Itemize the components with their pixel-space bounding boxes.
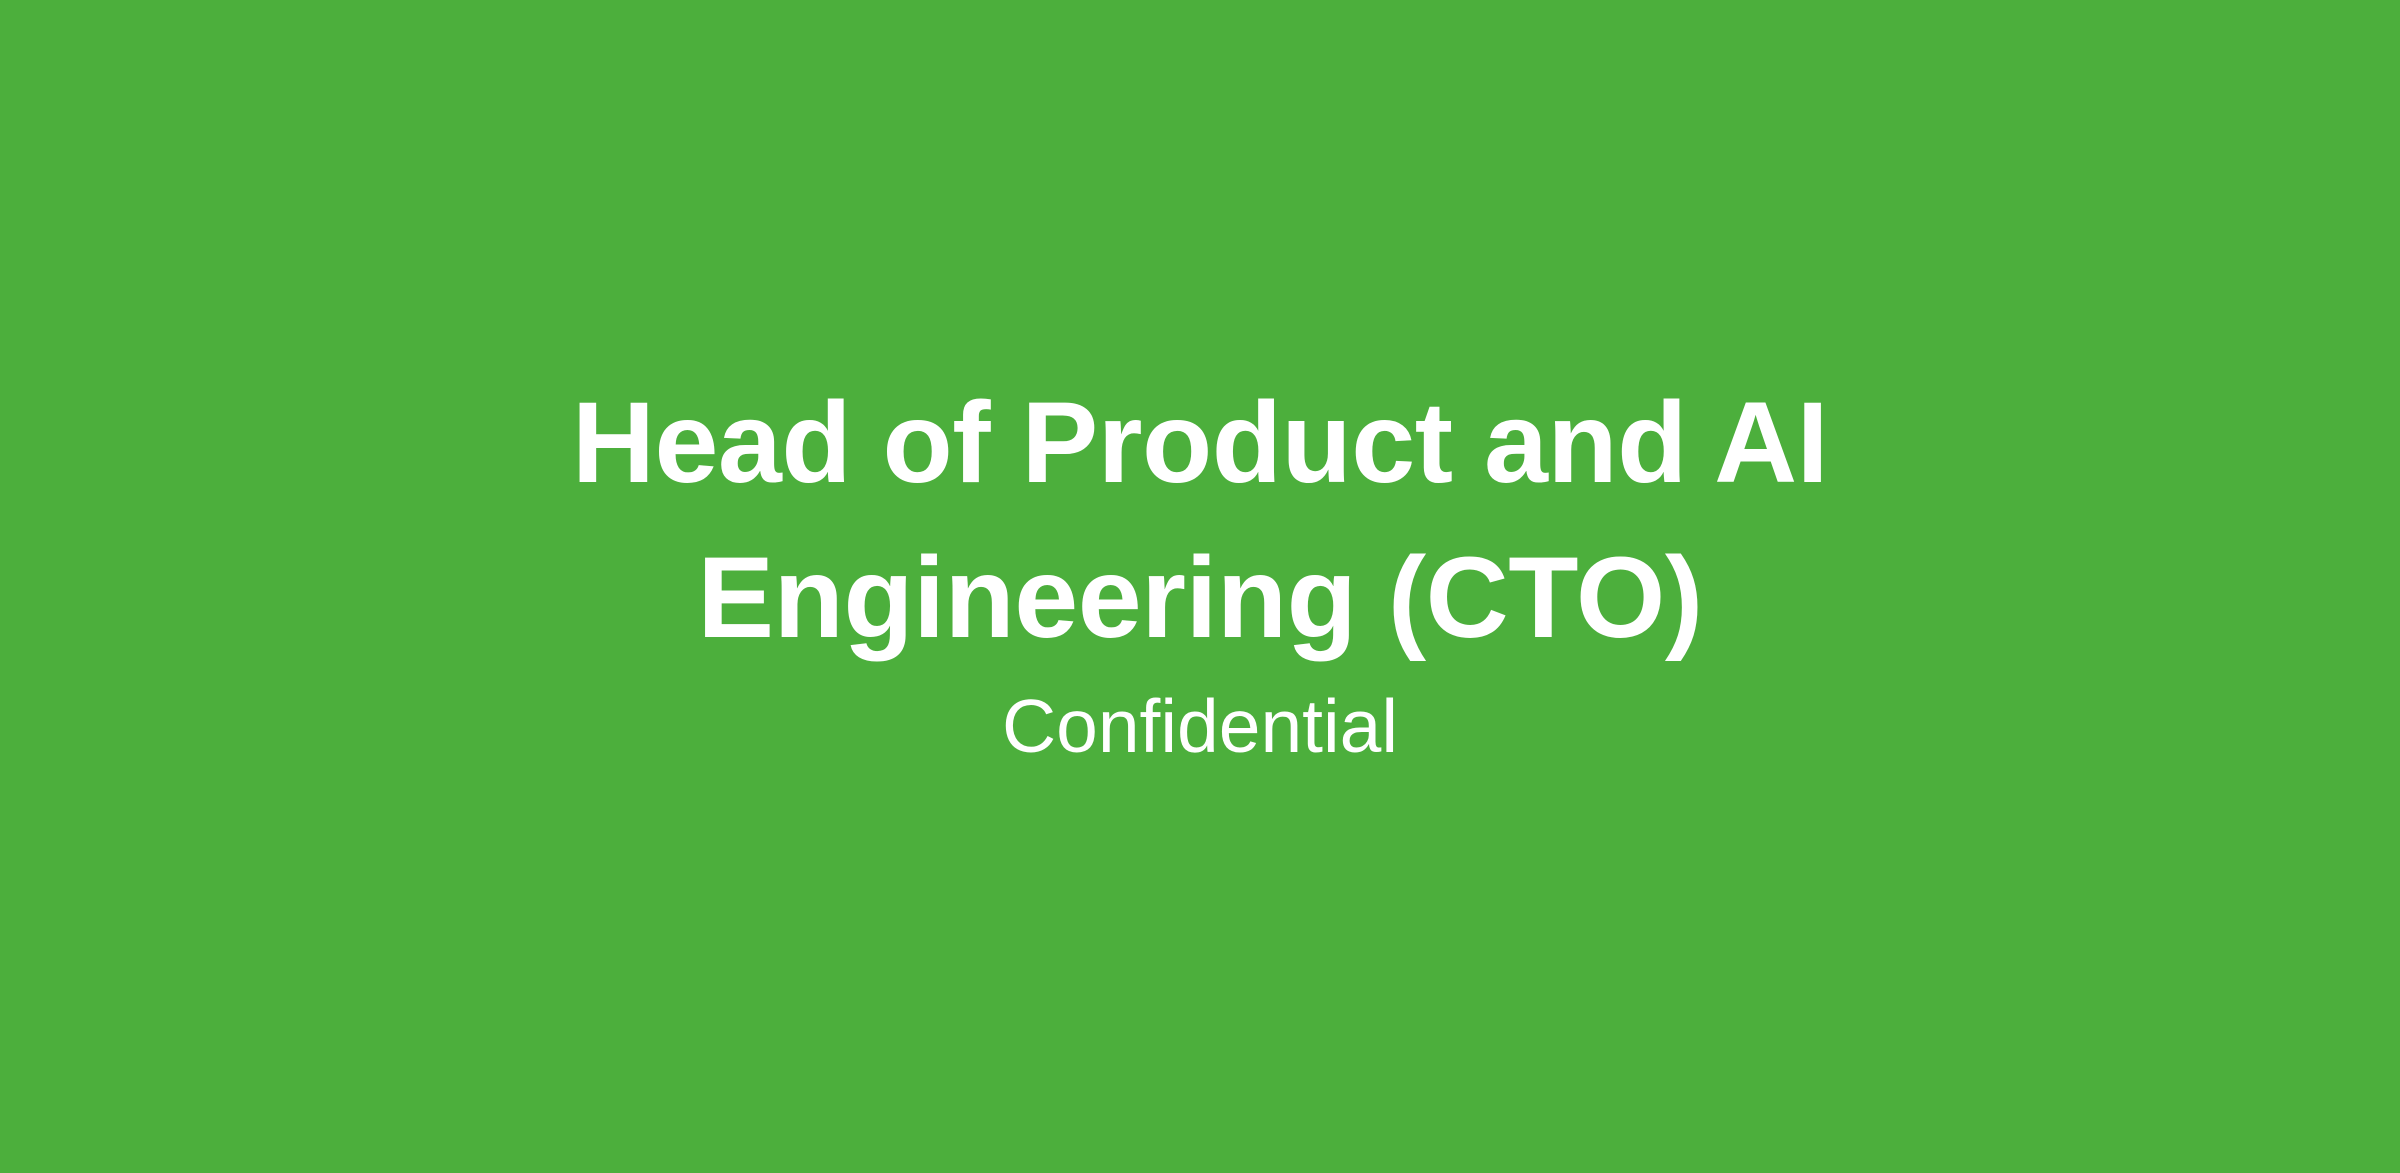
title-slide: Head of Product and AI Engineering (CTO)… bbox=[0, 0, 2400, 1173]
slide-title: Head of Product and AI Engineering (CTO) bbox=[320, 366, 2080, 675]
slide-subtitle: Confidential bbox=[1002, 681, 1398, 773]
title-block: Head of Product and AI Engineering (CTO)… bbox=[320, 366, 2080, 773]
